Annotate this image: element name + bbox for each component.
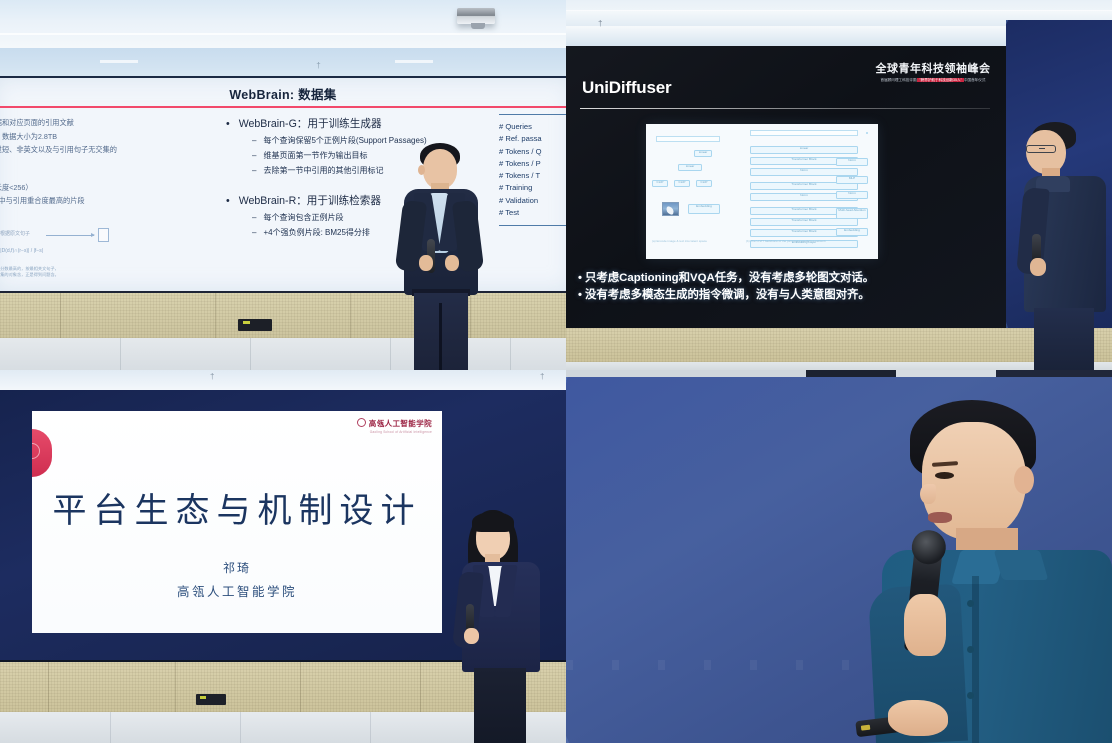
sample-image-icon (662, 202, 679, 216)
figure-block: CLIP (652, 180, 668, 187)
figure-block: CLIP (696, 180, 712, 187)
hand-left (419, 255, 433, 271)
slide-left-line: 分成段落 (0, 167, 181, 181)
title-slide: 高瓴人工智能学院 Gaoling School of Artificial In… (32, 411, 442, 633)
ear (1014, 466, 1034, 494)
slide-author: 祁琦 (32, 559, 442, 576)
slide-stats-table: # Queries # Ref. passa # Tokens / Q # To… (499, 114, 566, 226)
slide-title-underline (0, 106, 566, 108)
table-row: # Tokens / P (499, 158, 566, 170)
slide-affiliation: 高瓴人工智能学院 (32, 581, 442, 600)
photo-collage: † WebBrain: 数据集 基百科数据和对应页面的引用文献 引用文献，数据大… (0, 0, 1112, 743)
institute-logo: 高瓴人工智能学院 Gaoling School of Artificial In… (357, 418, 432, 434)
ceiling-seam (0, 33, 566, 35)
upper-wall (0, 48, 566, 78)
slide-left-line: 的句子，长度<256） (0, 181, 181, 195)
panel-bottom-left: † † 高瓴人工智能学院 Gaoling School of Artificia… (0, 370, 566, 743)
figure-block: MLP (836, 176, 868, 184)
speaker-person-closeup (836, 400, 1112, 743)
figure-block: Multi-head Attention (836, 208, 868, 219)
shirt-button (967, 692, 974, 699)
led-display-screen: UniDiffuser 全球青年科技领袖峰会 首届顾问理工科技评委|"跨界护航于… (566, 46, 1006, 328)
shirt-button (967, 646, 974, 653)
ceiling-vent-icon: † (315, 62, 322, 69)
bullet-item: 只考虑Captioning和VQA任务，没有考虑多轮图文对话。 (578, 270, 994, 287)
table-row: # Tokens / T (499, 170, 566, 182)
slide-left-line: 例）：文献中与引用重合度最高的片段 (0, 194, 181, 208)
speaker-person (1018, 122, 1108, 370)
institute-logo-main: 高瓴人工智能学院 (357, 418, 432, 429)
hand-holding-clicker (888, 700, 948, 736)
hand-left (464, 628, 479, 644)
ceiling-vent-icon: † (540, 372, 544, 381)
figure-block: Linear (750, 146, 858, 154)
figure-block: Norm (750, 168, 858, 176)
slide-title-underline (580, 108, 990, 109)
wall-control-panel[interactable] (196, 694, 226, 705)
hand-left (1030, 258, 1046, 276)
table-rule (499, 225, 566, 226)
table-row: # Training (499, 182, 566, 194)
projector-lens-icon (471, 23, 485, 29)
nose (920, 484, 936, 504)
panel-top-right: † UniDiffuser 全球青年科技领袖峰会 首届顾问理工科技评委|"跨界护… (566, 0, 1112, 370)
figure-panel-b: Linear Transformer Block Norm Transforme… (742, 128, 874, 245)
figure-caption: 若分数最高的，按最相关文句子，文集的对象含，正是得到问题含。 (0, 266, 59, 279)
slide-title: 平台生态与机制设计 (32, 483, 442, 532)
eye (935, 472, 954, 479)
slide-title: UniDiffuser (582, 78, 671, 98)
wall-notch (100, 60, 138, 63)
logo-sub-highlight: "跨界护航于科技创新35人" (917, 78, 964, 82)
legs (474, 668, 526, 743)
figure-label: 根据原文句子 (0, 230, 30, 237)
slide-bullets: 只考虑Captioning和VQA任务，没有考虑多轮图文对话。 没有考虑多模态生… (578, 270, 994, 303)
table-row: # Ref. passa (499, 133, 566, 145)
panel-top-left: † WebBrain: 数据集 基百科数据和对应页面的引用文献 引用文献，数据大… (0, 0, 566, 370)
arrow-icon (46, 235, 94, 236)
led-indicator-icon (243, 321, 250, 324)
table-rule (499, 114, 566, 115)
figure-block: Transformer Block (750, 218, 858, 226)
figure-formula: = |D(d,f)∩(r−s)| / |f−s| (0, 248, 43, 254)
collar-right (994, 550, 1049, 580)
slide-left-line: 基百科数据和对应页面的引用文献 (0, 116, 181, 130)
architecture-figure: Linear CLIP CLIP CLIP Linear Embedding (… (646, 124, 878, 259)
slide-title: WebBrain: 数据集 (0, 84, 566, 103)
eyeglasses-icon (1026, 145, 1056, 153)
seal-icon (357, 418, 366, 427)
ceiling-vent-icon: † (210, 372, 214, 381)
table-row: # Validation (499, 195, 566, 207)
figure-panel-a: Linear CLIP CLIP CLIP Linear Embedding (… (650, 128, 736, 245)
speaker-person (398, 143, 484, 370)
hand-right (445, 255, 459, 271)
ceiling (0, 370, 566, 390)
figure-block: Norm (836, 158, 868, 166)
summit-logo-main: 全球青年科技领袖峰会 (874, 60, 992, 76)
speaker-person (454, 510, 546, 743)
hand-holding-microphone (904, 594, 946, 656)
figure-block: Norm (836, 191, 868, 199)
figure-caption: (a) Encode image & text into latent spac… (652, 239, 707, 243)
led-indicator-icon (200, 696, 206, 699)
document-icon (98, 228, 109, 242)
sprinkler-icon: † (598, 20, 605, 27)
legs (1034, 308, 1094, 370)
figure-block: Embedding (688, 204, 720, 214)
institute-logo-sub: Gaoling School of Artificial Intelligenc… (357, 430, 432, 434)
figure-block: CLIP (674, 180, 690, 187)
figure-block: Embedding (836, 228, 868, 236)
figure-block: Linear (678, 164, 702, 171)
shirt-button (967, 600, 974, 607)
ear (418, 165, 425, 175)
legs (414, 293, 468, 370)
slide-figure-thumbnail: 根据原文句子 = |D(d,f)∩(r−s)| / |f−s| 若分数最高的，按… (0, 226, 134, 282)
table-row: # Tokens / Q (499, 146, 566, 158)
upper-wall-edge (566, 370, 1112, 377)
summit-logo-sub: 首届顾问理工科技评委|"跨界护航于科技创新35人"中国首年仪式 (874, 78, 992, 83)
projector-icon (457, 8, 495, 24)
bullet-primary: WebBrain-G：用于训练生成器 (226, 116, 494, 131)
hair-fringe (472, 512, 514, 532)
wall-notch (395, 60, 433, 63)
bullet-item: 没有考虑多模态生成的指令微调，没有与人类意图对齐。 (578, 287, 994, 304)
slide-left-line: 面，去除过短、非英文以及与引用句子无交集的 (0, 143, 181, 157)
mouth (928, 512, 952, 523)
figure-block: Linear (694, 150, 712, 157)
logo-sub-left: 首届顾问理工科技评委| (881, 78, 918, 82)
table-row: # Test (499, 207, 566, 219)
summit-logo: 全球青年科技领袖峰会 首届顾问理工科技评委|"跨界护航于科技创新35人"中国首年… (874, 60, 992, 83)
wall-control-panel[interactable] (238, 319, 272, 331)
slide-left-line: 引用文献，数据大小为2.8TB (0, 130, 181, 144)
figure-caption: (b) The U-ViT backbone of the joint nois… (746, 239, 826, 243)
logo-sub-right: 中国首年仪式 (964, 78, 986, 82)
table-row: # Queries (499, 121, 566, 133)
panel-bottom-right (566, 370, 1112, 743)
decorative-mark (32, 429, 52, 477)
slide-left-column: 基百科数据和对应页面的引用文献 引用文献，数据大小为2.8TB 面，去除过短、非… (0, 116, 181, 208)
institute-logo-text: 高瓴人工智能学院 (369, 419, 432, 428)
